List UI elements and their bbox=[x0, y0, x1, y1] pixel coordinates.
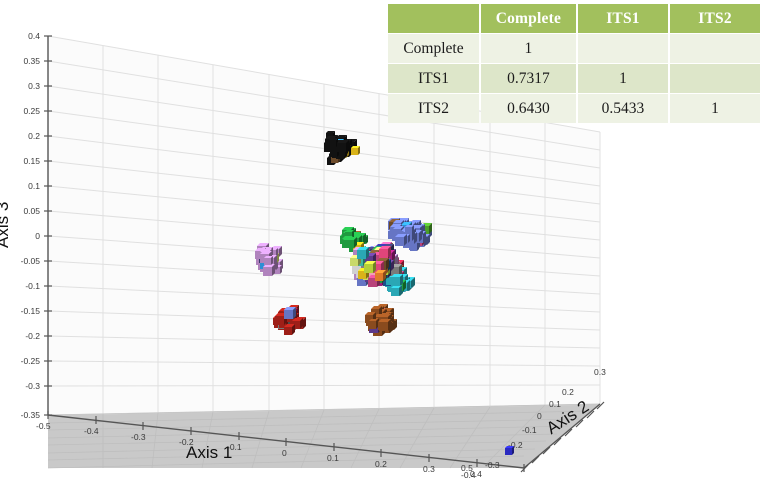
cell-complete-complete: 1 bbox=[481, 34, 576, 63]
axis3-tick: 0.2 bbox=[12, 131, 40, 141]
axis2-tick: 0.2 bbox=[562, 387, 574, 397]
column-header-its1: ITS1 bbox=[578, 4, 668, 33]
axis1-tick: 0.3 bbox=[423, 464, 435, 474]
data-point-marker bbox=[284, 307, 296, 319]
axis3-tick: 0.1 bbox=[12, 181, 40, 191]
data-point-marker bbox=[284, 324, 295, 335]
axis3-tick: 0.15 bbox=[8, 156, 40, 166]
axis3-tick: -0.1 bbox=[8, 281, 40, 291]
row-header-its2: ITS2 bbox=[388, 94, 479, 123]
data-point-marker bbox=[505, 446, 514, 455]
axis3-tick: 0.3 bbox=[12, 81, 40, 91]
axis3-tick: 0 bbox=[18, 231, 40, 241]
axis3-tick: 0.4 bbox=[12, 31, 40, 41]
axis1-tick: 0.2 bbox=[375, 459, 387, 469]
data-point-marker bbox=[375, 270, 386, 281]
table-row: ITS1 0.7317 1 bbox=[388, 64, 760, 93]
data-point-marker bbox=[351, 146, 360, 155]
data-point-marker bbox=[379, 319, 391, 331]
data-point-marker bbox=[379, 246, 391, 258]
cell-complete-its1 bbox=[578, 34, 668, 63]
axis2-tick: 0.3 bbox=[594, 367, 606, 377]
axis2-tick: 0.1 bbox=[549, 399, 561, 409]
axis2-tick: -0.1 bbox=[522, 425, 537, 435]
data-point-marker bbox=[391, 274, 403, 286]
data-point-marker bbox=[346, 237, 357, 248]
axis3-tick: -0.3 bbox=[8, 381, 40, 391]
row-header-its1: ITS1 bbox=[388, 64, 479, 93]
table-corner-cell bbox=[388, 4, 479, 33]
column-header-its2: ITS2 bbox=[670, 4, 760, 33]
data-point-marker bbox=[364, 261, 376, 273]
axis1-tick: 0 bbox=[282, 448, 287, 458]
data-point-marker bbox=[337, 140, 349, 152]
cell-its2-its2: 1 bbox=[670, 94, 760, 123]
axis3-tick: -0.15 bbox=[4, 306, 40, 316]
correlation-matrix-table: Complete ITS1 ITS2 Complete 1 ITS1 0.731… bbox=[386, 3, 762, 124]
cell-its2-complete: 0.6430 bbox=[481, 94, 576, 123]
axis3-tick: -0.35 bbox=[4, 410, 40, 420]
cell-its1-its2 bbox=[670, 64, 760, 93]
axis1-tick: -0.3 bbox=[131, 432, 146, 442]
axis1-title: Axis 1 bbox=[186, 443, 232, 463]
axis1-tick: -0.4 bbox=[84, 426, 99, 436]
table-row: Complete 1 bbox=[388, 34, 760, 63]
axis3-tick: 0.25 bbox=[8, 106, 40, 116]
axis1-tick: 0.1 bbox=[327, 453, 339, 463]
data-point-marker bbox=[264, 256, 273, 265]
axis3-tick: -0.05 bbox=[4, 256, 40, 266]
axis1-tick: -0.5 bbox=[36, 421, 51, 431]
axis3-title: Axis 3 bbox=[0, 202, 13, 248]
cell-complete-its2 bbox=[670, 34, 760, 63]
table-row: ITS2 0.6430 0.5433 1 bbox=[388, 94, 760, 123]
data-point-marker bbox=[369, 319, 378, 328]
cell-its2-its1: 0.5433 bbox=[578, 94, 668, 123]
data-point-marker bbox=[357, 247, 369, 259]
axis3-tick: -0.2 bbox=[8, 331, 40, 341]
data-point-marker bbox=[391, 285, 402, 296]
data-point-marker bbox=[405, 225, 414, 234]
axis2-tick: 0 bbox=[537, 411, 542, 421]
axis2-tick: -0.3 bbox=[485, 460, 500, 470]
axis2-tick: -0.4 bbox=[461, 470, 476, 480]
table-header-row: Complete ITS1 ITS2 bbox=[388, 4, 760, 33]
axis3-tick: -0.25 bbox=[4, 356, 40, 366]
axis3-tick: 0.35 bbox=[8, 56, 40, 66]
row-header-complete: Complete bbox=[388, 34, 479, 63]
data-point-marker bbox=[263, 264, 275, 276]
column-header-complete: Complete bbox=[481, 4, 576, 33]
cell-its1-complete: 0.7317 bbox=[481, 64, 576, 93]
data-point-marker bbox=[395, 234, 407, 246]
cell-its1-its1: 1 bbox=[578, 64, 668, 93]
figure-canvas: 0.4 0.35 0.3 0.25 0.2 0.15 0.1 0.05 0 -0… bbox=[0, 0, 766, 481]
